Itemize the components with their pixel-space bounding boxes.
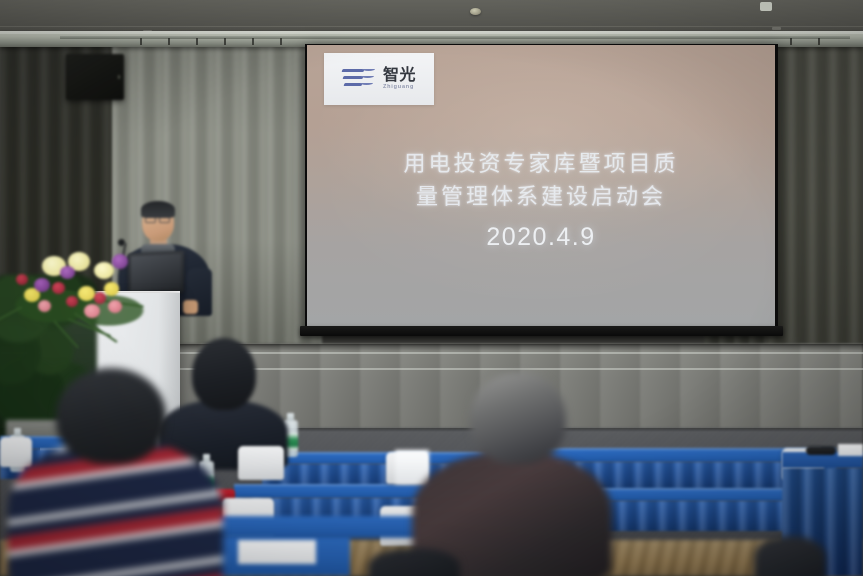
logo-english-name: Zhiguang	[383, 85, 414, 91]
chair-back	[0, 437, 32, 467]
flower-purple	[34, 278, 50, 292]
speaker-led-icon	[118, 75, 120, 79]
curtain-hook	[224, 38, 226, 45]
chair-back	[238, 446, 284, 480]
flower-yellow	[78, 286, 95, 301]
flower-red	[94, 292, 106, 304]
curtain-hook	[280, 38, 282, 45]
curtain-rail	[60, 36, 850, 39]
paper-sheet	[238, 540, 316, 564]
valance-end-cap	[760, 2, 772, 11]
flower-red	[66, 296, 78, 307]
slide-date: 2020.4.9	[307, 223, 775, 252]
microphone-icon	[118, 239, 125, 246]
glasses-lens-left-icon	[145, 217, 156, 223]
flower-purple	[112, 254, 128, 269]
flower-pink	[84, 304, 100, 318]
slide-logo-card: 智光 Zhiguang	[324, 53, 434, 105]
glasses-lens-right-icon	[159, 217, 170, 223]
flower-red	[52, 282, 65, 294]
flower-yellow	[94, 262, 114, 279]
ceiling-seam	[0, 26, 863, 27]
curtain-hook	[252, 38, 254, 45]
flower-yellow	[104, 282, 119, 296]
slide-title-line-1: 用电投资专家库暨项目质	[307, 148, 775, 181]
paper-sheet	[395, 450, 429, 484]
curtain-hook	[168, 38, 170, 45]
wall-speaker-icon	[66, 54, 124, 100]
valance-highlight	[0, 31, 863, 34]
curtain-hook	[196, 38, 198, 45]
audience-head	[56, 368, 166, 464]
smoke-detector-icon	[470, 8, 481, 15]
paper-sheet	[838, 444, 863, 456]
projection-screen: 智光 Zhiguang 用电投资专家库暨项目质 量管理体系建设启动会 2020.…	[307, 45, 775, 326]
screen-bottom-bar	[300, 326, 783, 336]
floral-arrangement	[8, 248, 158, 343]
wave-bars-icon	[342, 66, 378, 92]
slide-title-line-2: 量管理体系建设启动会	[307, 181, 775, 214]
flower-purple	[60, 266, 75, 279]
logo-chinese-name: 智光	[383, 67, 416, 83]
slide-title: 用电投资专家库暨项目质 量管理体系建设启动会	[307, 148, 775, 214]
audience-head	[192, 338, 256, 410]
flower-pink	[38, 300, 51, 312]
curtain-right	[768, 44, 863, 344]
dark-object-on-table	[806, 446, 836, 455]
audience-torso	[368, 548, 460, 576]
audience-torso	[754, 536, 826, 576]
flower-red	[16, 274, 28, 285]
curtain-hook	[818, 38, 820, 45]
ceiling-vent-icon	[772, 27, 781, 30]
curtain-hook	[790, 38, 792, 45]
presenter-hand	[183, 300, 198, 314]
curtain-hook	[140, 38, 142, 45]
audience-head-gray	[470, 372, 566, 464]
flower-pink	[108, 300, 122, 313]
conference-photo-scene: 智光 Zhiguang 用电投资专家库暨项目质 量管理体系建设启动会 2020.…	[0, 0, 863, 576]
